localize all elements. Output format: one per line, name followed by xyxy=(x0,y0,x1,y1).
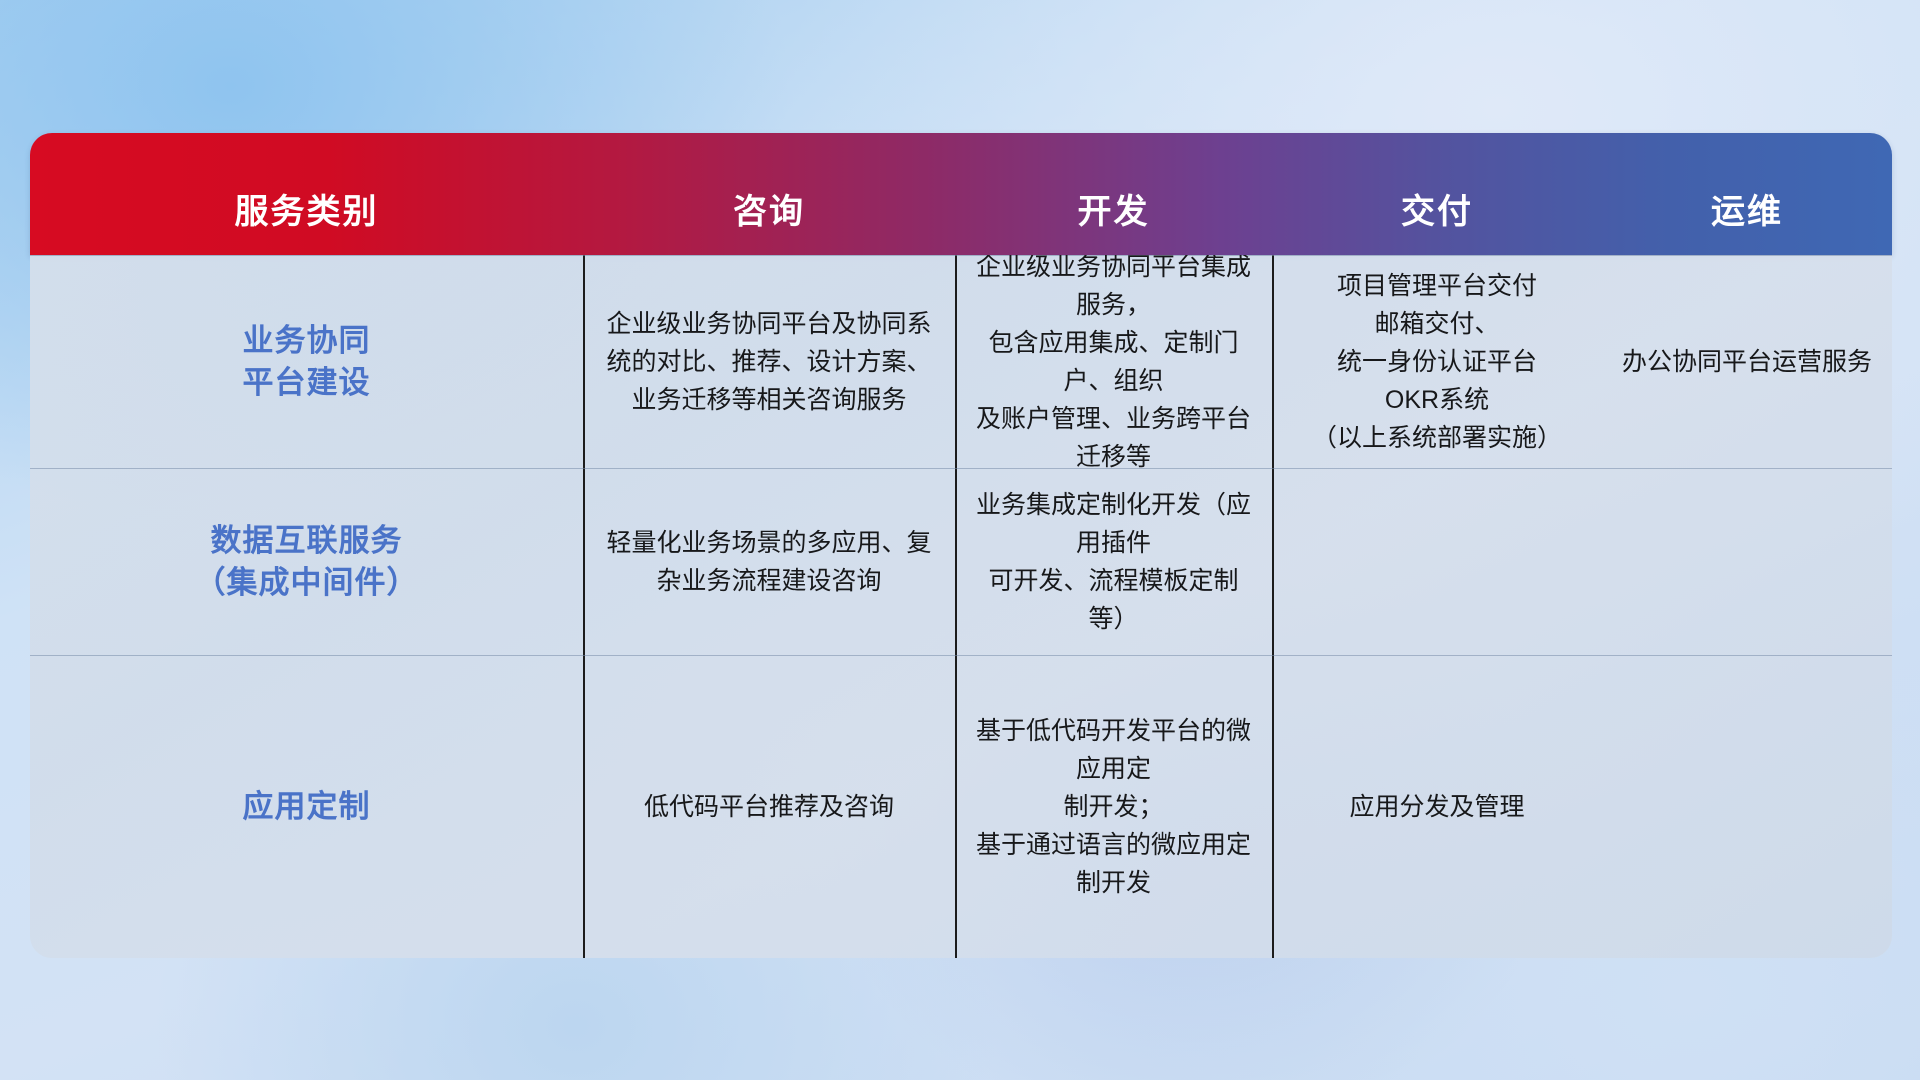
cell-consulting: 轻量化业务场景的多应用、复 杂业务流程建设咨询 xyxy=(583,468,955,655)
cell-development: 业务集成定制化开发（应用插件 可开发、流程模板定制等） xyxy=(955,468,1272,655)
cell-delivery: 应用分发及管理 xyxy=(1272,655,1602,958)
column-header-delivery: 交付 xyxy=(1272,184,1602,255)
cell-consulting: 低代码平台推荐及咨询 xyxy=(583,655,955,958)
row-category-label: 业务协同 平台建设 xyxy=(30,255,583,468)
cell-operations xyxy=(1602,655,1892,958)
cell-operations: 办公协同平台运营服务 xyxy=(1602,255,1892,468)
table-row: 业务协同 平台建设 企业级业务协同平台及协同系 统的对比、推荐、设计方案、 业务… xyxy=(30,255,1892,468)
service-category-table: 服务类别 咨询 开发 交付 运维 业务协同 平台建设 企业级业务协同平台及协同系… xyxy=(30,133,1892,958)
cell-delivery xyxy=(1272,468,1602,655)
column-header-development: 开发 xyxy=(955,184,1272,255)
cell-consulting: 企业级业务协同平台及协同系 统的对比、推荐、设计方案、 业务迁移等相关咨询服务 xyxy=(583,255,955,468)
row-category-label: 数据互联服务 （集成中间件） xyxy=(30,468,583,655)
cell-delivery: 项目管理平台交付 邮箱交付、 统一身份认证平台 OKR系统 （以上系统部署实施） xyxy=(1272,255,1602,468)
cell-development: 基于低代码开发平台的微应用定 制开发； 基于通过语言的微应用定制开发 xyxy=(955,655,1272,958)
row-category-label: 应用定制 xyxy=(30,655,583,958)
table-row: 数据互联服务 （集成中间件） 轻量化业务场景的多应用、复 杂业务流程建设咨询 业… xyxy=(30,468,1892,655)
table-body: 业务协同 平台建设 企业级业务协同平台及协同系 统的对比、推荐、设计方案、 业务… xyxy=(30,255,1892,958)
table-row: 应用定制 低代码平台推荐及咨询 基于低代码开发平台的微应用定 制开发； 基于通过… xyxy=(30,655,1892,958)
column-header-consulting: 咨询 xyxy=(583,184,955,255)
column-header-service-category: 服务类别 xyxy=(30,184,583,255)
table-header-row: 服务类别 咨询 开发 交付 运维 xyxy=(30,133,1892,255)
cell-operations xyxy=(1602,468,1892,655)
cell-development: 企业级业务协同平台集成服务， 包含应用集成、定制门户、组织 及账户管理、业务跨平… xyxy=(955,255,1272,468)
column-header-operations: 运维 xyxy=(1602,184,1892,255)
